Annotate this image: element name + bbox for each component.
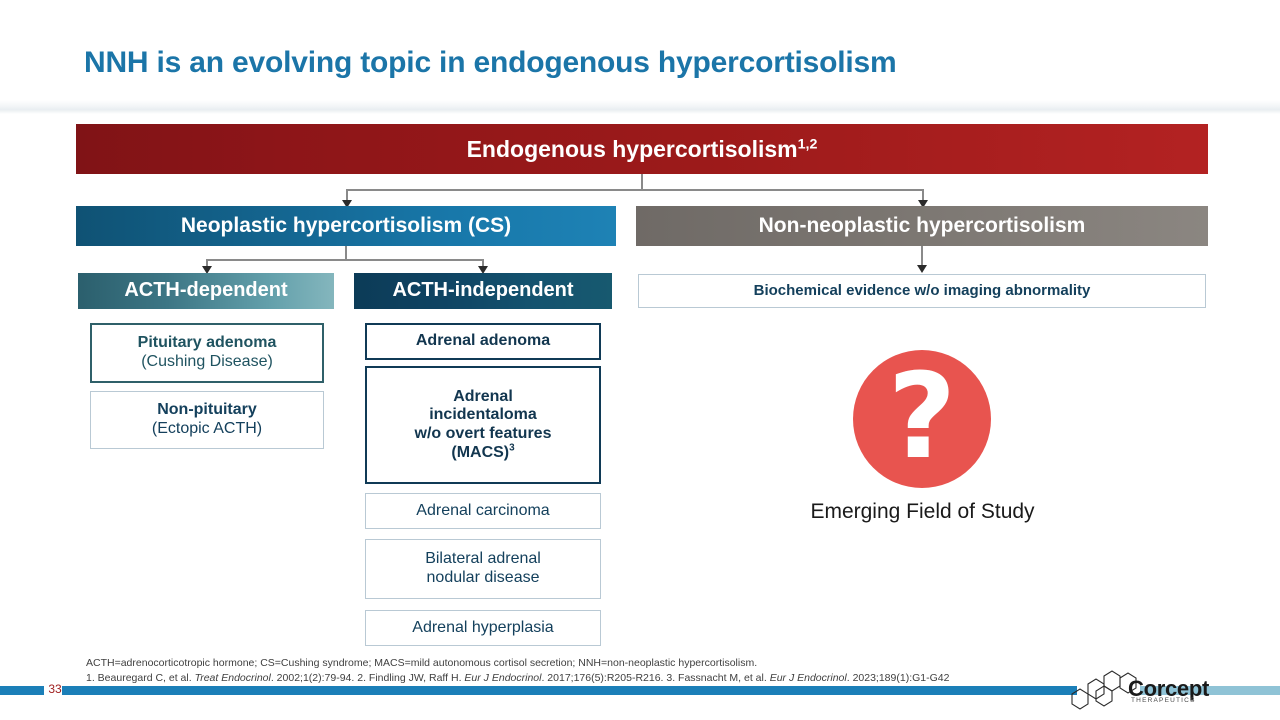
leaf-adrenal-adenoma: Adrenal adenoma	[365, 323, 601, 360]
node-label: Non-neoplastic hypercortisolism	[759, 214, 1086, 238]
leaf-line-2: nodular disease	[425, 569, 541, 588]
node-biochemical-evidence: Biochemical evidence w/o imaging abnorma…	[638, 274, 1206, 308]
leaf-line-1: Bilateral adrenal	[425, 550, 541, 569]
leaf-text: Non-pituitary (Ectopic ACTH)	[152, 401, 262, 438]
question-mark-glyph: ?	[888, 357, 956, 475]
node-label: Biochemical evidence w/o imaging abnorma…	[754, 282, 1091, 299]
leaf-line-2: (Ectopic ACTH)	[152, 420, 262, 439]
node-label: ACTH-dependent	[124, 279, 287, 302]
leaf-line-2: (Cushing Disease)	[138, 353, 277, 372]
title-divider	[0, 100, 1280, 114]
footer-bar-right	[62, 686, 1077, 695]
footer-bar-left	[0, 686, 44, 695]
leaf-bilateral-adrenal-nodular-disease: Bilateral adrenal nodular disease	[365, 539, 601, 599]
leaf-line-1: Adrenal carcinoma	[416, 502, 549, 521]
leaf-text: Adrenal incidentaloma w/o overt features…	[415, 388, 552, 462]
leaf-text: Pituitary adenoma (Cushing Disease)	[138, 334, 277, 371]
node-neoplastic-hypercortisolism: Neoplastic hypercortisolism (CS)	[76, 206, 616, 246]
leaf-adrenal-hyperplasia: Adrenal hyperplasia	[365, 610, 601, 646]
leaf-text: Bilateral adrenal nodular disease	[425, 550, 541, 587]
leaf-line-4: (MACS)3	[415, 444, 552, 463]
leaf-line-1: Non-pituitary	[152, 401, 262, 420]
superscript-ref: 3	[509, 442, 515, 453]
leaf-line-3: w/o overt features	[415, 425, 552, 444]
superscript-ref: 1,2	[798, 136, 818, 152]
emerging-field-label: Emerging Field of Study	[760, 500, 1085, 524]
leaf-line-1: Adrenal hyperplasia	[412, 619, 553, 638]
footnotes: ACTH=adrenocorticotropic hormone; CS=Cus…	[86, 656, 1096, 686]
leaf-adrenal-incidentaloma: Adrenal incidentaloma w/o overt features…	[365, 366, 601, 484]
leaf-line-2: incidentaloma	[415, 406, 552, 425]
node-label: Endogenous hypercortisolism1,2	[467, 136, 818, 163]
question-mark-icon: ?	[853, 350, 991, 488]
footnote-abbreviations: ACTH=adrenocorticotropic hormone; CS=Cus…	[86, 656, 1096, 671]
leaf-line-1: Adrenal adenoma	[416, 332, 550, 351]
brand-tagline: THERAPEUTICS	[1131, 697, 1196, 704]
connector-neoplastic-horizontal	[206, 259, 484, 261]
node-label: Neoplastic hypercortisolism (CS)	[181, 214, 511, 238]
leaf-line-1: Pituitary adenoma	[138, 334, 277, 353]
leaf-adrenal-carcinoma: Adrenal carcinoma	[365, 493, 601, 529]
connector-root-stem	[641, 174, 643, 190]
node-acth-independent: ACTH-independent	[354, 273, 612, 309]
node-non-neoplastic-hypercortisolism: Non-neoplastic hypercortisolism	[636, 206, 1208, 246]
arrow-to-biochemical-evidence	[917, 265, 927, 273]
connector-neoplastic-stem	[345, 246, 347, 260]
page-title: NNH is an evolving topic in endogenous h…	[84, 46, 1184, 80]
slide-canvas: NNH is an evolving topic in endogenous h…	[0, 0, 1280, 720]
node-acth-dependent: ACTH-dependent	[78, 273, 334, 309]
connector-root-horizontal	[346, 189, 924, 191]
leaf-pituitary-adenoma: Pituitary adenoma (Cushing Disease)	[90, 323, 324, 383]
leaf-non-pituitary: Non-pituitary (Ectopic ACTH)	[90, 391, 324, 449]
node-endogenous-hypercortisolism: Endogenous hypercortisolism1,2	[76, 124, 1208, 174]
leaf-line-1: Adrenal	[415, 388, 552, 407]
footnote-references: 1. Beauregard C, et al. Treat Endocrinol…	[86, 671, 1096, 686]
node-label: ACTH-independent	[392, 279, 573, 302]
